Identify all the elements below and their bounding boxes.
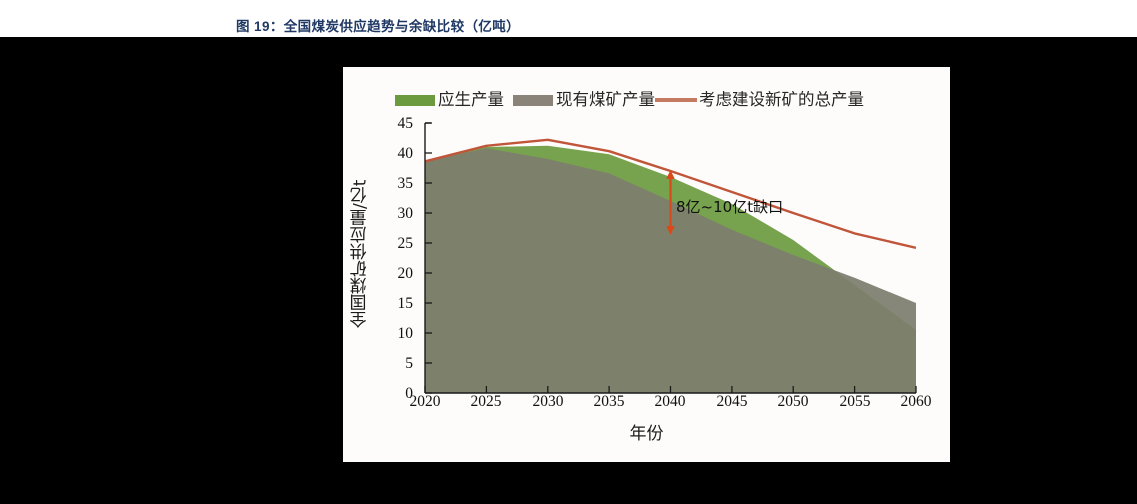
title-strip — [0, 0, 1137, 37]
x-tick: 2055 — [825, 393, 885, 411]
x-tick: 2050 — [763, 393, 823, 411]
gap-annotation-label: 8亿~10亿t缺口 — [676, 196, 783, 217]
figure-caption: 图 19：全国煤炭供应趋势与余缺比较（亿吨） — [236, 15, 520, 35]
x-tick: 2045 — [702, 393, 762, 411]
x-axis-label: 年份 — [343, 419, 950, 444]
plot-area: 全国煤矿供应量/亿t 45 40 35 30 25 20 15 10 5 0 — [343, 67, 950, 462]
x-tick: 2040 — [640, 393, 700, 411]
x-tick: 2035 — [579, 393, 639, 411]
x-tick: 2020 — [395, 393, 455, 411]
chart-card: 应生产量 现有煤矿产量 考虑建设新矿的总产量 全国煤矿供应量/亿t 45 40 … — [343, 67, 950, 462]
x-tick: 2030 — [518, 393, 578, 411]
x-axis-ticks: 2020 2025 2030 2035 2040 2045 2050 2055 … — [343, 393, 950, 417]
x-tick: 2025 — [456, 393, 516, 411]
x-tick: 2060 — [886, 393, 946, 411]
